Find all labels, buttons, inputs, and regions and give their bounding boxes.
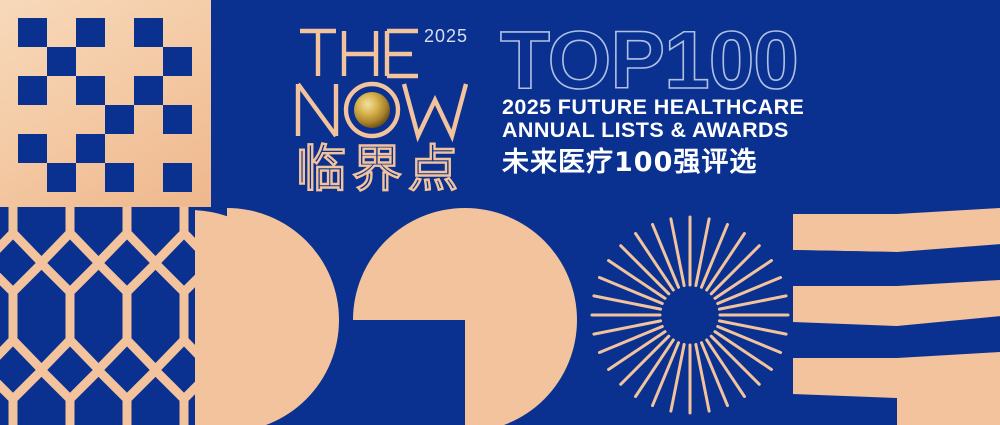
checkerboard-cell [47,18,76,47]
checkerboard-cell [105,134,134,163]
checkerboard-pattern [18,18,192,192]
semicircle-shapes-icon [195,200,595,425]
diagonal-stripes-icon [787,202,1000,425]
checkerboard-cell [47,134,76,163]
checkerboard-cell [47,47,76,76]
tagline-en-line1: 2025 FUTURE HEALTHCARE [502,96,842,119]
checkerboard-cell [105,47,134,76]
tagline-group: 2025 FUTURE HEALTHCARE ANNUAL LISTS & AW… [502,96,842,180]
checkerboard-cell [163,134,192,163]
starburst-ray [711,246,759,294]
top100-label: TOP100 [500,22,798,102]
starburst-icon [583,205,798,425]
checkerboard-cell [47,163,76,192]
top100-outline-text: TOP100 [500,22,845,102]
checkerboard-cell [47,76,76,105]
checkerboard-cell [76,76,105,105]
checkerboard-cell [134,47,163,76]
checkerboard-cell [163,76,192,105]
checkerboard-cell [18,18,47,47]
gold-orb-icon [354,92,390,128]
logo-year: 2025 [424,26,468,46]
checkerboard-cell [76,47,105,76]
checkerboard-cell [134,105,163,134]
logo-chinese-name: 临界点 [296,140,464,193]
checkerboard-cell [18,163,47,192]
checkerboard-cell [105,163,134,192]
diagonal-stripes-panel [787,202,1000,425]
checkerboard-cell [76,134,105,163]
checkerboard-cell [105,105,134,134]
banner-root: 2025 临界点 TOP100 2025 FUTURE HEALTHCARE A… [0,0,1000,425]
starburst-ray [621,246,669,294]
the-now-logo: 2025 临界点 [292,18,492,193]
checkerboard-cell [47,105,76,134]
the-now-logo-icon: 2025 临界点 [292,18,492,193]
checkerboard-cell [105,18,134,47]
tagline-cn: 未来医疗100强评选 [502,146,842,180]
starburst-ray [621,336,669,384]
checkerboard-cell [134,18,163,47]
checkerboard-cell [134,163,163,192]
checkerboard-cell [18,47,47,76]
semicircle-shapes-panel [195,200,595,425]
checkerboard-cell [76,18,105,47]
checkerboard-cell [18,105,47,134]
starburst-panel [583,205,798,425]
checkerboard-panel [0,0,211,207]
checkerboard-cell [163,47,192,76]
checkerboard-cell [163,105,192,134]
checkerboard-cell [18,134,47,163]
checkerboard-cell [76,105,105,134]
headline-block: TOP100 2025 FUTURE HEALTHCARE ANNUAL LIS… [500,22,845,197]
starburst-ray [711,336,759,384]
checkerboard-cell [134,134,163,163]
checkerboard-cell [163,163,192,192]
checkerboard-cell [105,76,134,105]
checkerboard-cell [18,76,47,105]
tagline-en-line2: ANNUAL LISTS & AWARDS [502,119,842,142]
checkerboard-cell [134,76,163,105]
checkerboard-cell [76,163,105,192]
checkerboard-cell [163,18,192,47]
